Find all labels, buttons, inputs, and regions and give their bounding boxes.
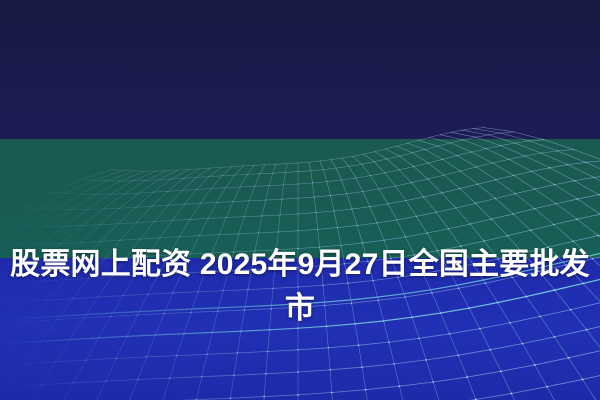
promo-banner: 股票网上配资 2025年9月27日全国主要批发市 场红椒价格行情 bbox=[0, 0, 600, 400]
top-navy-band bbox=[0, 0, 600, 139]
banner-title-line-1: 股票网上配资 2025年9月27日全国主要批发市 bbox=[0, 243, 600, 331]
banner-title: 股票网上配资 2025年9月27日全国主要批发市 场红椒价格行情 bbox=[0, 155, 600, 400]
